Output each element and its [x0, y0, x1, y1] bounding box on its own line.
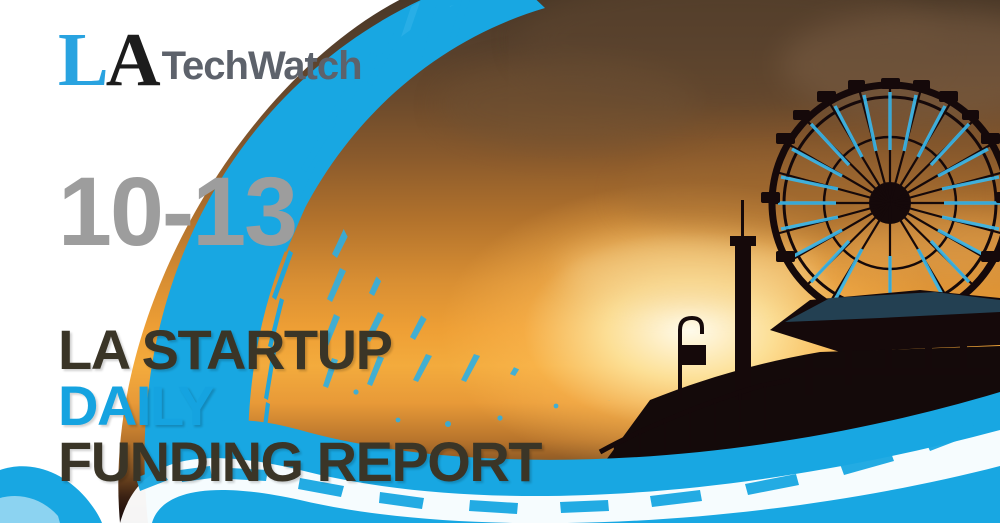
headline-line-1: LA STARTUP: [58, 322, 541, 378]
issue-date: 10-13: [58, 163, 296, 260]
logo-techwatch-text: TechWatch: [162, 44, 362, 89]
logo-letter-a: A: [106, 22, 158, 98]
headline-line-2: DAILY: [58, 378, 541, 434]
la-techwatch-logo[interactable]: LA TechWatch: [58, 22, 362, 98]
la-techwatch-funding-report-banner: LA TechWatch 10-13 LA STARTUP DAILY FUND…: [0, 0, 1000, 523]
banner-content: LA TechWatch 10-13 LA STARTUP DAILY FUND…: [0, 0, 660, 523]
logo-letter-l: L: [58, 22, 106, 98]
headline-line-3: FUNDING REPORT: [58, 434, 541, 490]
headline: LA STARTUP DAILY FUNDING REPORT: [58, 322, 541, 490]
pier-tower: [735, 240, 751, 400]
